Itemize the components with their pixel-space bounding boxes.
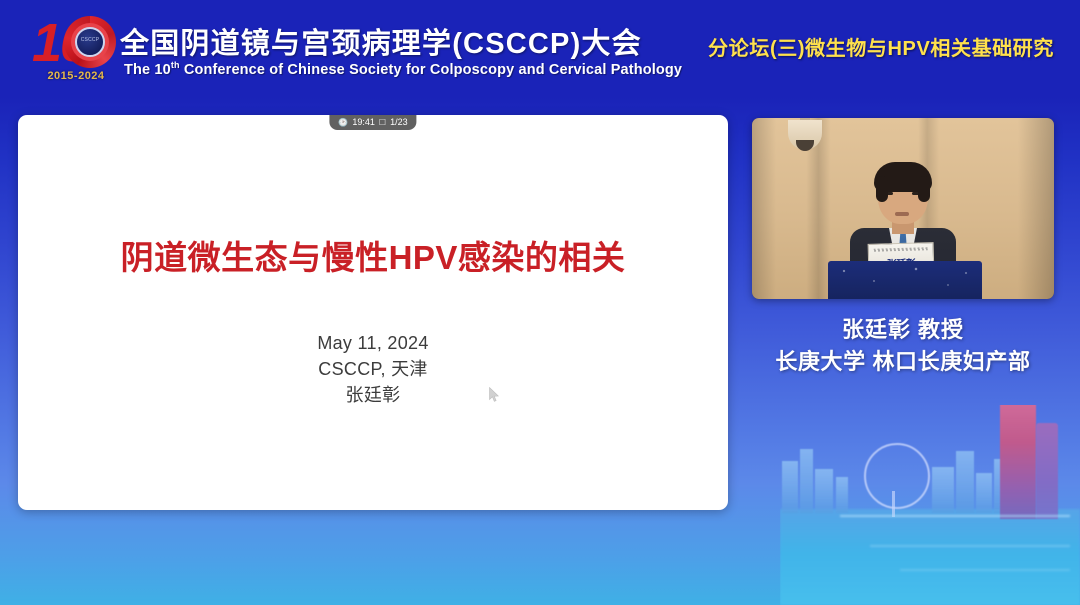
conference-title-en-rest: Conference of Chinese Society for Colpos… <box>180 62 683 78</box>
tianjin-skyline-decoration <box>780 405 1080 605</box>
speaker-caption: 张廷彰 教授 长庚大学 林口长庚妇产部 <box>740 314 1066 378</box>
header-banner: 10 CSCCP 2015-2024 全国阴道镜与宫颈病理学(CSCCP)大会 … <box>0 0 1080 96</box>
presentation-slide-panel[interactable]: 🕑 19:41 ☐ 1/23 阴道微生态与慢性HPV感染的相关 May 11, … <box>18 115 728 510</box>
logo-inner-mark: CSCCP <box>77 37 103 43</box>
speaker-video-feed[interactable]: 张廷彰 <box>752 118 1054 299</box>
podium <box>828 261 982 299</box>
slide-meta-venue: CSCCP, 天津 <box>18 356 728 382</box>
slide-page-counter: 1/23 <box>390 115 408 130</box>
speaker-name: 张廷彰 教授 <box>740 314 1066 346</box>
skyline-glow-line <box>900 569 1070 571</box>
conference-title-en-prefix: The 10 <box>124 62 171 78</box>
skyline-building <box>932 467 954 513</box>
skyline-water <box>780 509 1080 605</box>
speaker-hair <box>874 162 932 192</box>
conference-logo: 10 CSCCP 2015-2024 <box>24 10 132 88</box>
podium-star-pattern <box>828 261 982 299</box>
conference-title-cn: 全国阴道镜与宫颈病理学(CSCCP)大会 <box>120 20 642 62</box>
skyline-building <box>815 469 833 513</box>
skyline-glow-line <box>840 515 1070 517</box>
skyline-glow-line <box>870 545 1070 547</box>
skyline-tower-main <box>1000 405 1036 519</box>
tianjin-eye-stem <box>892 491 895 517</box>
conference-title-en: The 10th Conference of Chinese Society f… <box>124 60 682 78</box>
tianjin-eye-icon <box>864 443 930 509</box>
slide-title: 阴道微生态与慢性HPV感染的相关 <box>18 231 728 279</box>
skyline-building <box>782 461 798 513</box>
logo-years-label: 2015-2024 <box>28 70 124 82</box>
slide-meta-date: May 11, 2024 <box>18 330 728 356</box>
slide-elapsed-time: 19:41 <box>352 115 375 130</box>
slide-metadata: May 11, 2024 CSCCP, 天津 张廷彰 <box>18 330 728 408</box>
skyline-building <box>976 473 992 513</box>
page-icon: ☐ <box>379 119 386 127</box>
skyline-tower-secondary <box>1036 423 1058 519</box>
skyline-building <box>836 477 848 513</box>
mouse-cursor <box>489 387 500 403</box>
conference-title-en-ordinal: th <box>171 60 180 70</box>
logo-ring-inner: CSCCP <box>75 27 105 57</box>
nameplate-header-line <box>874 247 928 251</box>
slide-meta-presenter: 张廷彰 <box>18 382 728 408</box>
skyline-building <box>800 449 813 513</box>
speaker-mouth <box>895 212 909 216</box>
broadcast-screen: 10 CSCCP 2015-2024 全国阴道镜与宫颈病理学(CSCCP)大会 … <box>0 0 1080 605</box>
skyline-building <box>956 451 974 513</box>
clock-icon: 🕑 <box>338 119 348 127</box>
speaker-affiliation: 长庚大学 林口长庚妇产部 <box>740 346 1066 378</box>
slide-status-bar: 🕑 19:41 ☐ 1/23 <box>329 115 416 130</box>
session-label: 分论坛(三)微生物与HPV相关基础研究 <box>708 32 1054 61</box>
